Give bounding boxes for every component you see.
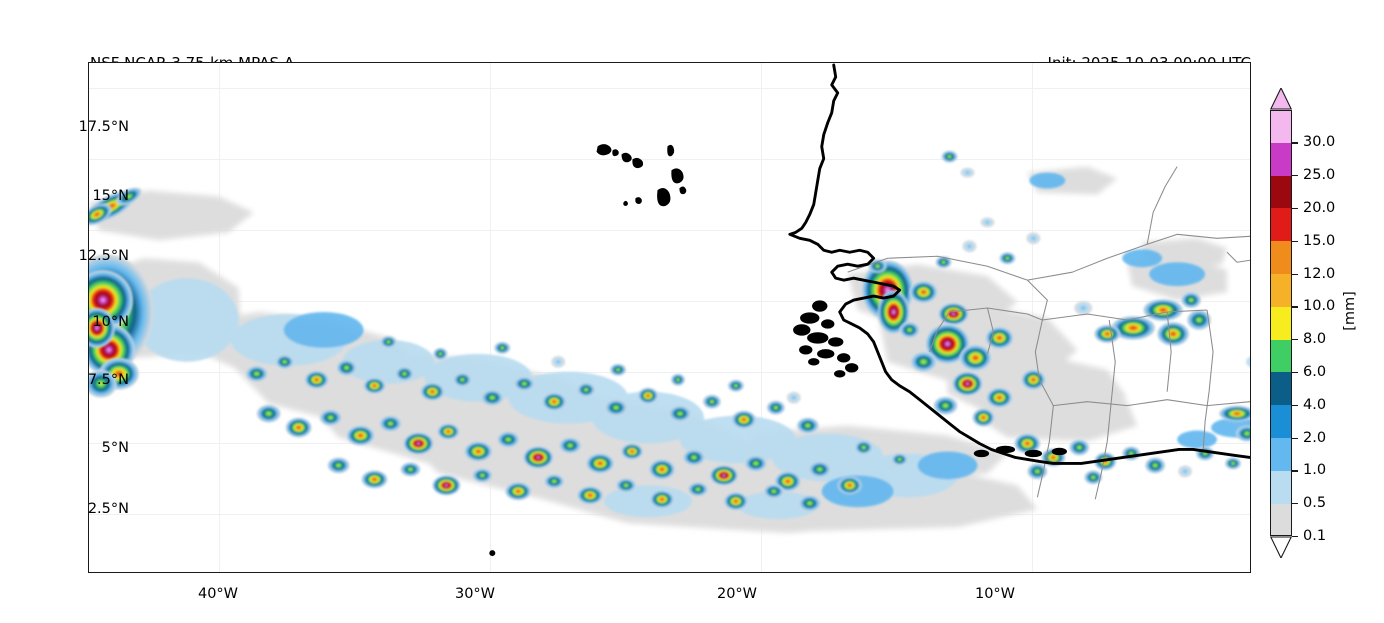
colorbar-tick-label: 8.0: [1303, 331, 1326, 347]
colorbar-band: [1270, 438, 1292, 471]
y-tick-label: 15°N: [92, 188, 129, 204]
colorbar-tick: [1292, 241, 1298, 242]
colorbar-tick: [1292, 339, 1298, 340]
y-tick-label: 17.5°N: [79, 119, 129, 135]
cape-verde-islands: [597, 145, 686, 206]
colorbar-band: [1270, 405, 1292, 438]
colorbar-band: [1270, 208, 1292, 241]
colorbar-tick-label: 20.0: [1303, 200, 1335, 216]
colorbar-band: [1270, 143, 1292, 176]
colorbar-tick-label: 10.0: [1303, 298, 1335, 314]
colorbar-bands: [1270, 110, 1292, 536]
colorbar-tick-label: 4.0: [1303, 397, 1326, 413]
colorbar-tick-label: 1.0: [1303, 462, 1326, 478]
colorbar-tick-label: 6.0: [1303, 364, 1326, 380]
x-tick-label: 10°W: [975, 586, 1015, 602]
y-tick-label: 2.5°N: [88, 501, 129, 517]
colorbar-tick: [1292, 372, 1298, 373]
colorbar-tick: [1292, 470, 1298, 471]
colorbar-tick: [1292, 208, 1298, 209]
colorbar-tick-label: 25.0: [1303, 167, 1335, 183]
colorbar-band: [1270, 176, 1292, 209]
colorbar-band: [1270, 307, 1292, 340]
colorbar-tick: [1292, 175, 1298, 176]
x-tick-label: 30°W: [455, 586, 495, 602]
y-tick-label: 7.5°N: [88, 372, 129, 388]
precipitation-forecast-figure: NSF NCAR 3.75-km MPAS-A 1-hr Accumulated…: [0, 0, 1384, 623]
colorbar-band: [1270, 110, 1292, 143]
colorbar-extend-min: [1270, 536, 1292, 558]
colorbar-tick: [1292, 142, 1298, 143]
x-tick-label: 20°W: [717, 586, 757, 602]
colorbar-band: [1270, 340, 1292, 373]
colorbar-tick: [1292, 438, 1298, 439]
precipitation-field: [89, 63, 1250, 572]
isolated-grid-point: [489, 550, 495, 556]
colorbar-band: [1270, 274, 1292, 307]
colorbar-tick-label: 0.5: [1303, 495, 1326, 511]
colorbar-tick-label: 2.0: [1303, 430, 1326, 446]
colorbar-band: [1270, 241, 1292, 274]
x-tick-label: 40°W: [198, 586, 238, 602]
map-canvas: [89, 63, 1250, 572]
colorbar-tick-label: 15.0: [1303, 233, 1335, 249]
colorbar-tick: [1292, 306, 1298, 307]
colorbar: 0.1 0.5 1.0 2.0 4.0 6.0 8.0 10.0 12.0 15…: [1270, 88, 1292, 558]
colorbar-unit-label: [mm]: [1342, 291, 1358, 331]
sahel-storm-cells: [1074, 292, 1211, 346]
map-axes: [88, 62, 1251, 573]
colorbar-tick: [1292, 274, 1298, 275]
y-tick-label: 5°N: [102, 440, 129, 456]
colorbar-band: [1270, 504, 1292, 537]
y-tick-label: 10°N: [92, 314, 129, 330]
colorbar-tick-label: 30.0: [1303, 134, 1335, 150]
colorbar-tick: [1292, 503, 1298, 504]
colorbar-tick: [1292, 536, 1298, 537]
colorbar-tick-label: 12.0: [1303, 266, 1335, 282]
colorbar-tick-label: 0.1: [1303, 528, 1326, 544]
colorbar-tick: [1292, 405, 1298, 406]
y-tick-label: 12.5°N: [79, 248, 129, 264]
colorbar-band: [1270, 471, 1292, 504]
colorbar-extend-max: [1270, 88, 1292, 110]
colorbar-band: [1270, 372, 1292, 405]
